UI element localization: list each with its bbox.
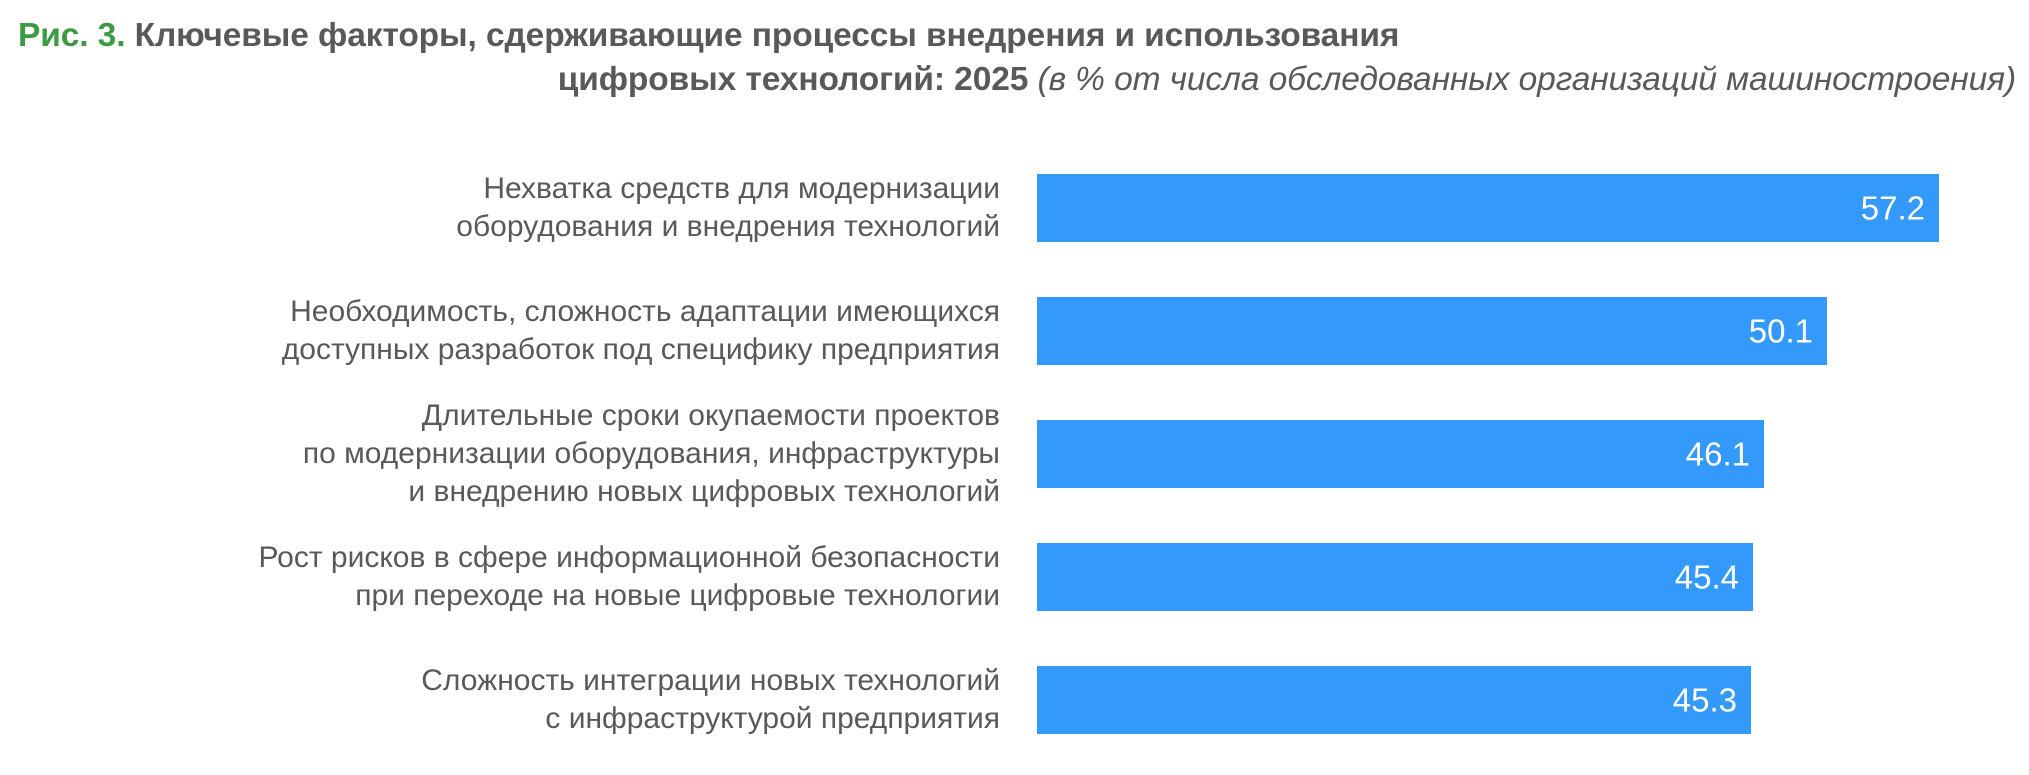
bar-5[interactable]: 45.3 bbox=[1037, 666, 1751, 734]
bar-chart-plot-area: Нехватка средств для модернизации оборуд… bbox=[0, 120, 2029, 775]
title-main-text-line-2: цифровых технологий: 2025 bbox=[558, 61, 1029, 98]
bar-row-1: Нехватка средств для модернизации оборуд… bbox=[0, 174, 2029, 242]
bar-row-2: Необходимость, сложность адаптации имеющ… bbox=[0, 297, 2029, 365]
bar-label-5-line-2: с инфраструктурой предприятия bbox=[421, 700, 1000, 738]
bar-track-1: 57.2 bbox=[1037, 174, 2012, 242]
bar-label-3: Длительные сроки окупаемости проектов по… bbox=[303, 397, 1000, 511]
bar-track-2: 50.1 bbox=[1037, 297, 2012, 365]
bar-2[interactable]: 50.1 bbox=[1037, 297, 1827, 365]
figure-title: Рис. 3. Ключевые факторы, сдерживающие п… bbox=[18, 14, 2016, 102]
figure-number: Рис. 3. bbox=[18, 17, 125, 54]
bar-4[interactable]: 45.4 bbox=[1037, 543, 1753, 611]
bar-track-3: 46.1 bbox=[1037, 420, 2012, 488]
bar-label-5-line-1: Сложность интеграции новых технологий bbox=[421, 662, 1000, 700]
bar-value-4: 45.4 bbox=[1675, 561, 1739, 594]
bar-row-5: Сложность интеграции новых технологий с … bbox=[0, 666, 2029, 734]
bar-label-1: Нехватка средств для модернизации оборуд… bbox=[456, 170, 1000, 246]
bar-label-3-line-1: Длительные сроки окупаемости проектов bbox=[303, 397, 1000, 435]
title-line-2: цифровых технологий: 2025 (в % от числа … bbox=[18, 58, 2016, 102]
bar-label-4-line-1: Рост рисков в сфере информационной безоп… bbox=[258, 539, 1000, 577]
bar-value-3: 46.1 bbox=[1686, 438, 1750, 471]
bar-track-5: 45.3 bbox=[1037, 666, 2012, 734]
bar-1[interactable]: 57.2 bbox=[1037, 174, 1939, 242]
bar-label-5: Сложность интеграции новых технологий с … bbox=[421, 662, 1000, 738]
bar-label-2: Необходимость, сложность адаптации имеющ… bbox=[282, 293, 1000, 369]
bar-value-2: 50.1 bbox=[1749, 315, 1813, 348]
title-units: (в % от числа обследованных организаций … bbox=[1038, 61, 2016, 98]
bar-label-2-line-2: доступных разработок под специфику предп… bbox=[282, 331, 1000, 369]
title-main-text-line-1: Ключевые факторы, сдерживающие процессы … bbox=[135, 17, 1400, 54]
bar-label-1-line-2: оборудования и внедрения технологий bbox=[456, 208, 1000, 246]
bar-label-4-line-2: при переходе на новые цифровые технологи… bbox=[258, 577, 1000, 615]
bar-label-1-line-1: Нехватка средств для модернизации bbox=[456, 170, 1000, 208]
bar-label-4: Рост рисков в сфере информационной безоп… bbox=[258, 539, 1000, 615]
bar-label-3-line-3: и внедрению новых цифровых технологий bbox=[303, 473, 1000, 511]
figure-container: Рис. 3. Ключевые факторы, сдерживающие п… bbox=[0, 0, 2029, 775]
title-line-1: Рис. 3. Ключевые факторы, сдерживающие п… bbox=[18, 14, 2016, 58]
bar-value-1: 57.2 bbox=[1861, 192, 1925, 225]
bar-3[interactable]: 46.1 bbox=[1037, 420, 1764, 488]
bar-label-2-line-1: Необходимость, сложность адаптации имеющ… bbox=[282, 293, 1000, 331]
bar-row-3: Длительные сроки окупаемости проектов по… bbox=[0, 420, 2029, 488]
bar-label-3-line-2: по модернизации оборудования, инфраструк… bbox=[303, 435, 1000, 473]
bar-value-5: 45.3 bbox=[1673, 684, 1737, 717]
bar-row-4: Рост рисков в сфере информационной безоп… bbox=[0, 543, 2029, 611]
bar-track-4: 45.4 bbox=[1037, 543, 2012, 611]
